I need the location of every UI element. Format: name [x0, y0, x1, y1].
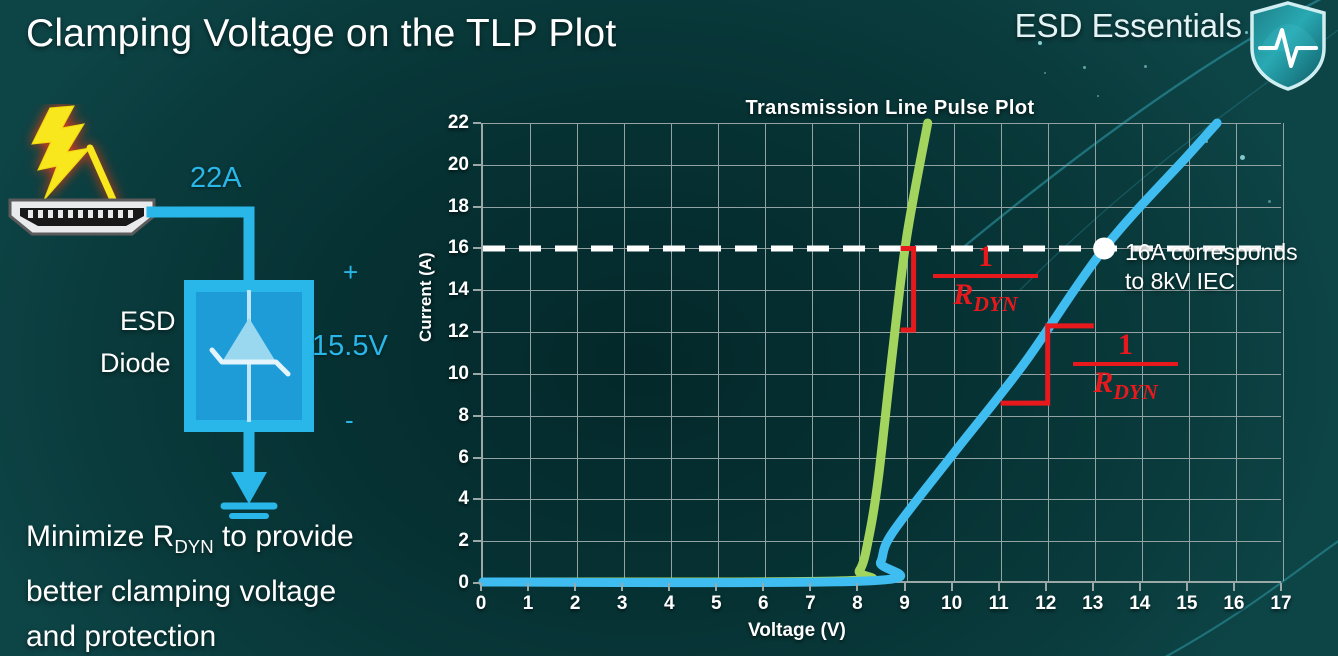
series-line — [483, 123, 928, 582]
caption-line1-pre: Minimize R — [26, 520, 174, 553]
fraction-bar — [933, 274, 1038, 278]
y-tick-mark — [473, 373, 481, 375]
y-tick-mark — [473, 206, 481, 208]
decor-star — [1083, 66, 1086, 69]
x-tick-mark — [951, 583, 953, 591]
caption-line-3: and protection — [26, 614, 426, 656]
y-tick-mark — [473, 540, 481, 542]
x-tick-label: 7 — [805, 593, 816, 615]
x-tick-label: 2 — [570, 593, 581, 615]
x-tick-label: 4 — [664, 593, 675, 615]
y-tick-label: 6 — [458, 447, 469, 469]
clamping-voltage-label: 15.5V — [312, 330, 388, 363]
denominator-base: R — [953, 278, 973, 311]
operating-point-marker — [1093, 237, 1115, 259]
x-tick-mark — [1045, 583, 1047, 591]
x-tick-mark — [668, 583, 670, 591]
caption-line-2: better clamping voltage — [26, 569, 426, 614]
y-axis-label: Current (A) — [416, 252, 436, 342]
fraction-numerator: 1 — [1073, 332, 1178, 358]
y-tick-label: 18 — [448, 196, 469, 218]
grid-line-vertical — [1283, 123, 1284, 581]
x-tick-mark — [998, 583, 1000, 591]
x-tick-mark — [856, 583, 858, 591]
x-tick-label: 11 — [989, 593, 1009, 615]
x-tick-label: 3 — [617, 593, 628, 615]
slide-canvas: Clamping Voltage on the TLP Plot ESD Ess… — [0, 0, 1338, 656]
x-tick-mark — [715, 583, 717, 591]
fraction-numerator: 1 — [933, 244, 1038, 270]
y-tick-mark — [473, 122, 481, 124]
x-tick-label: 16 — [1223, 593, 1244, 615]
caption-line1-sub: DYN — [174, 536, 213, 557]
x-tick-mark — [1092, 583, 1094, 591]
brand-label: ESD Essentials — [1015, 7, 1242, 45]
fraction-bar — [1073, 362, 1178, 366]
x-tick-label: 8 — [852, 593, 863, 615]
y-tick-label: 4 — [458, 488, 469, 510]
component-label-line1: ESD — [120, 306, 176, 337]
chart-title: Transmission Line Pulse Plot — [690, 97, 1090, 120]
y-tick-mark — [473, 331, 481, 333]
x-tick-mark — [480, 583, 482, 591]
polarity-minus-label: - — [345, 405, 354, 436]
x-tick-label: 0 — [476, 593, 487, 615]
x-tick-label: 17 — [1270, 593, 1291, 615]
y-tick-label: 0 — [458, 572, 469, 594]
x-axis-label: Voltage (V) — [748, 620, 846, 642]
x-tick-mark — [1280, 583, 1282, 591]
x-tick-label: 5 — [711, 593, 722, 615]
note-line-2: to 8kV IEC — [1125, 267, 1298, 296]
x-tick-mark — [904, 583, 906, 591]
x-tick-label: 15 — [1176, 593, 1197, 615]
y-tick-mark — [473, 457, 481, 459]
y-tick-label: 16 — [448, 237, 469, 259]
y-tick-label: 8 — [458, 405, 469, 427]
x-tick-label: 13 — [1082, 593, 1103, 615]
esd-circuit-diagram: 22A ESD Diode 15.5V + - — [0, 100, 430, 520]
y-tick-label: 12 — [448, 321, 469, 343]
shield-heartbeat-icon — [1246, 0, 1330, 92]
x-tick-label: 14 — [1129, 593, 1150, 615]
x-tick-mark — [527, 583, 529, 591]
operating-point-note: 16A corresponds to 8kV IEC — [1125, 238, 1298, 296]
y-tick-label: 14 — [448, 279, 469, 301]
x-tick-mark — [621, 583, 623, 591]
decor-star — [1044, 72, 1046, 74]
caption-line1-post: to provide — [214, 520, 354, 553]
x-tick-mark — [1233, 583, 1235, 591]
denominator-sub: DYN — [973, 292, 1017, 316]
x-tick-label: 12 — [1035, 593, 1056, 615]
fraction-denominator: RDYN — [1073, 367, 1178, 408]
component-label-line2: Diode — [100, 348, 171, 379]
x-tick-mark — [1139, 583, 1141, 591]
y-tick-label: 10 — [448, 363, 469, 385]
x-tick-mark — [574, 583, 576, 591]
note-line-1: 16A corresponds — [1125, 238, 1298, 267]
caption-text: Minimize RDYN to provide better clamping… — [26, 514, 426, 656]
y-tick-label: 22 — [448, 112, 469, 134]
x-tick-label: 6 — [758, 593, 769, 615]
tlp-chart: Transmission Line Pulse Plot Current (A)… — [418, 92, 1338, 656]
current-label: 22A — [190, 162, 242, 195]
decor-star — [1144, 65, 1147, 68]
y-tick-label: 20 — [448, 154, 469, 176]
polarity-plus-label: + — [343, 257, 358, 288]
slope-annotation-blue: 1 RDYN — [1073, 332, 1178, 408]
x-tick-label: 1 — [523, 593, 534, 615]
x-tick-label: 9 — [899, 593, 910, 615]
y-tick-mark — [473, 164, 481, 166]
denominator-base: R — [1093, 366, 1113, 399]
x-tick-mark — [762, 583, 764, 591]
caption-line-1: Minimize RDYN to provide — [26, 514, 426, 569]
denominator-sub: DYN — [1113, 380, 1157, 404]
page-title: Clamping Voltage on the TLP Plot — [26, 12, 616, 56]
y-tick-label: 2 — [458, 530, 469, 552]
x-tick-label: 10 — [941, 593, 962, 615]
y-tick-mark — [473, 415, 481, 417]
slope-annotation-green: 1 RDYN — [933, 244, 1038, 320]
y-tick-mark — [473, 289, 481, 291]
y-tick-mark — [473, 498, 481, 500]
fraction-denominator: RDYN — [933, 279, 1038, 320]
y-tick-mark — [473, 247, 481, 249]
x-tick-mark — [809, 583, 811, 591]
x-tick-mark — [1186, 583, 1188, 591]
